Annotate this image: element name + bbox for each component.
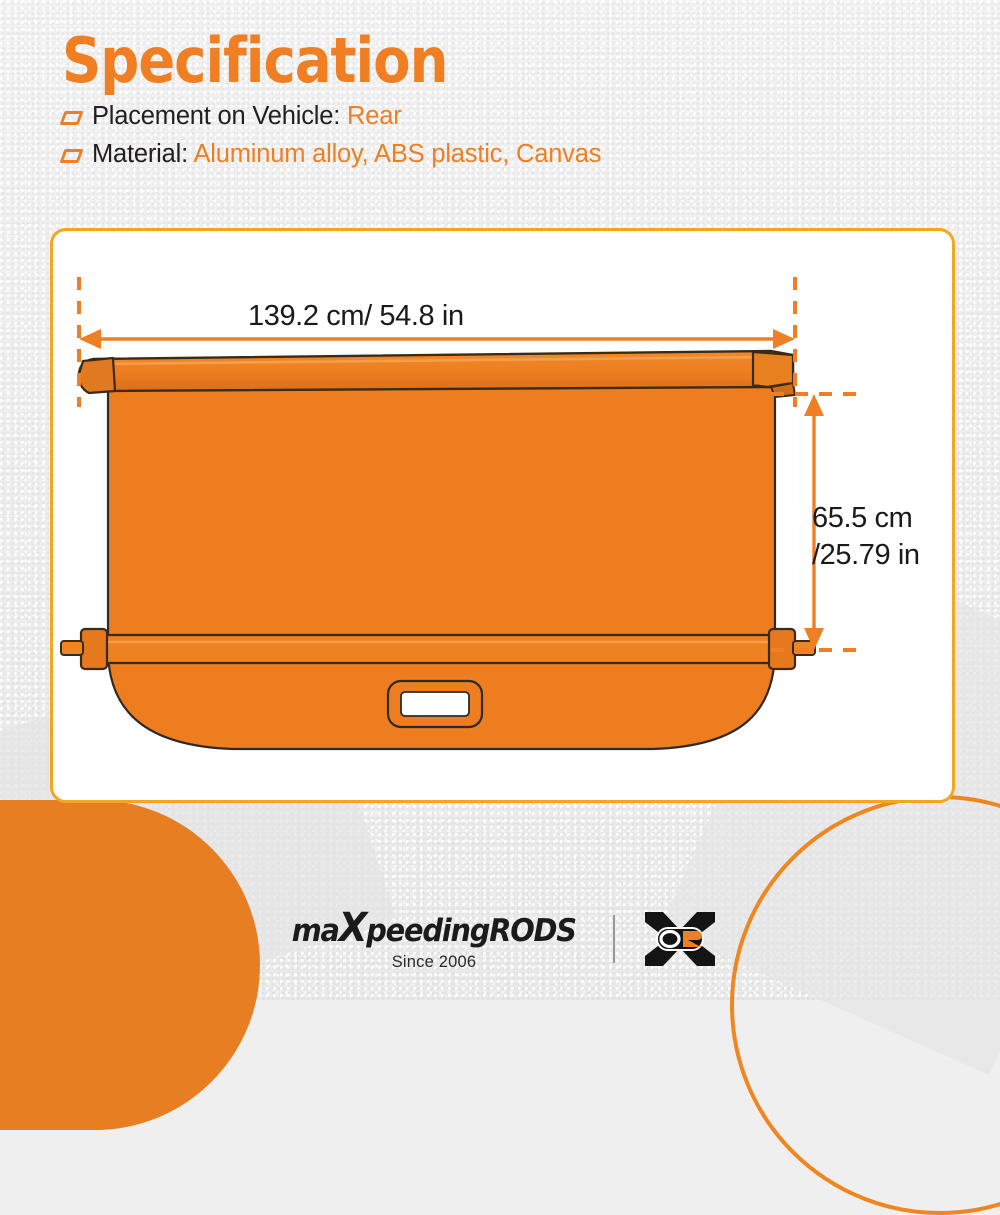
spec-placement-text: Placement on Vehicle: Rear [92,102,402,131]
oxr-badge-icon [641,910,719,968]
spec-material-value: Aluminum alloy, ABS plastic, Canvas [193,140,601,168]
brand-x-letter: X [339,905,366,951]
pull-handle-cutout [401,692,469,716]
width-arrow-left [79,329,101,349]
width-dimension-label: 139.2 cm/ 54.8 in [248,300,464,333]
bottom-bar-left-peg [61,641,83,655]
brand-wordmark: maXpeedingRODS [292,905,576,951]
spec-placement-label: Placement on Vehicle: [92,102,340,130]
brand-suffix: RODS [489,913,576,949]
bottom-cross-bar [95,635,781,663]
spec-item-material: Material: Aluminum alloy, ABS plastic, C… [62,140,962,169]
brand-mid: peeding [367,913,490,949]
top-roller-right-cap [753,352,793,387]
header: Specification Placement on Vehicle: Rear… [62,28,962,169]
brand-since-text: Since 2006 [392,953,477,972]
footer-divider [613,915,615,963]
parallelogram-bullet-icon [62,111,81,125]
width-arrow-right [773,329,795,349]
height-arrow-top [804,394,824,416]
footer: maXpeedingRODS Since 2006 [0,905,1000,972]
spec-material-text: Material: Aluminum alloy, ABS plastic, C… [92,140,601,169]
top-roller-left-cap [79,358,115,393]
height-dimension-label-in: /25.79 in [812,537,920,574]
spec-item-placement: Placement on Vehicle: Rear [62,102,962,131]
maxpeedingrods-logo: maXpeedingRODS Since 2006 [281,905,586,972]
bottom-bar-left-bracket [81,629,107,669]
height-dimension-label: 65.5 cm /25.79 in [812,500,920,574]
spec-material-label: Material: [92,140,188,168]
height-dimension-label-cm: 65.5 cm [812,500,920,537]
brand-prefix: ma [292,913,339,949]
parallelogram-bullet-icon [62,149,81,163]
spec-placement-value: Rear [347,102,401,130]
page-title: Specification [62,28,854,93]
